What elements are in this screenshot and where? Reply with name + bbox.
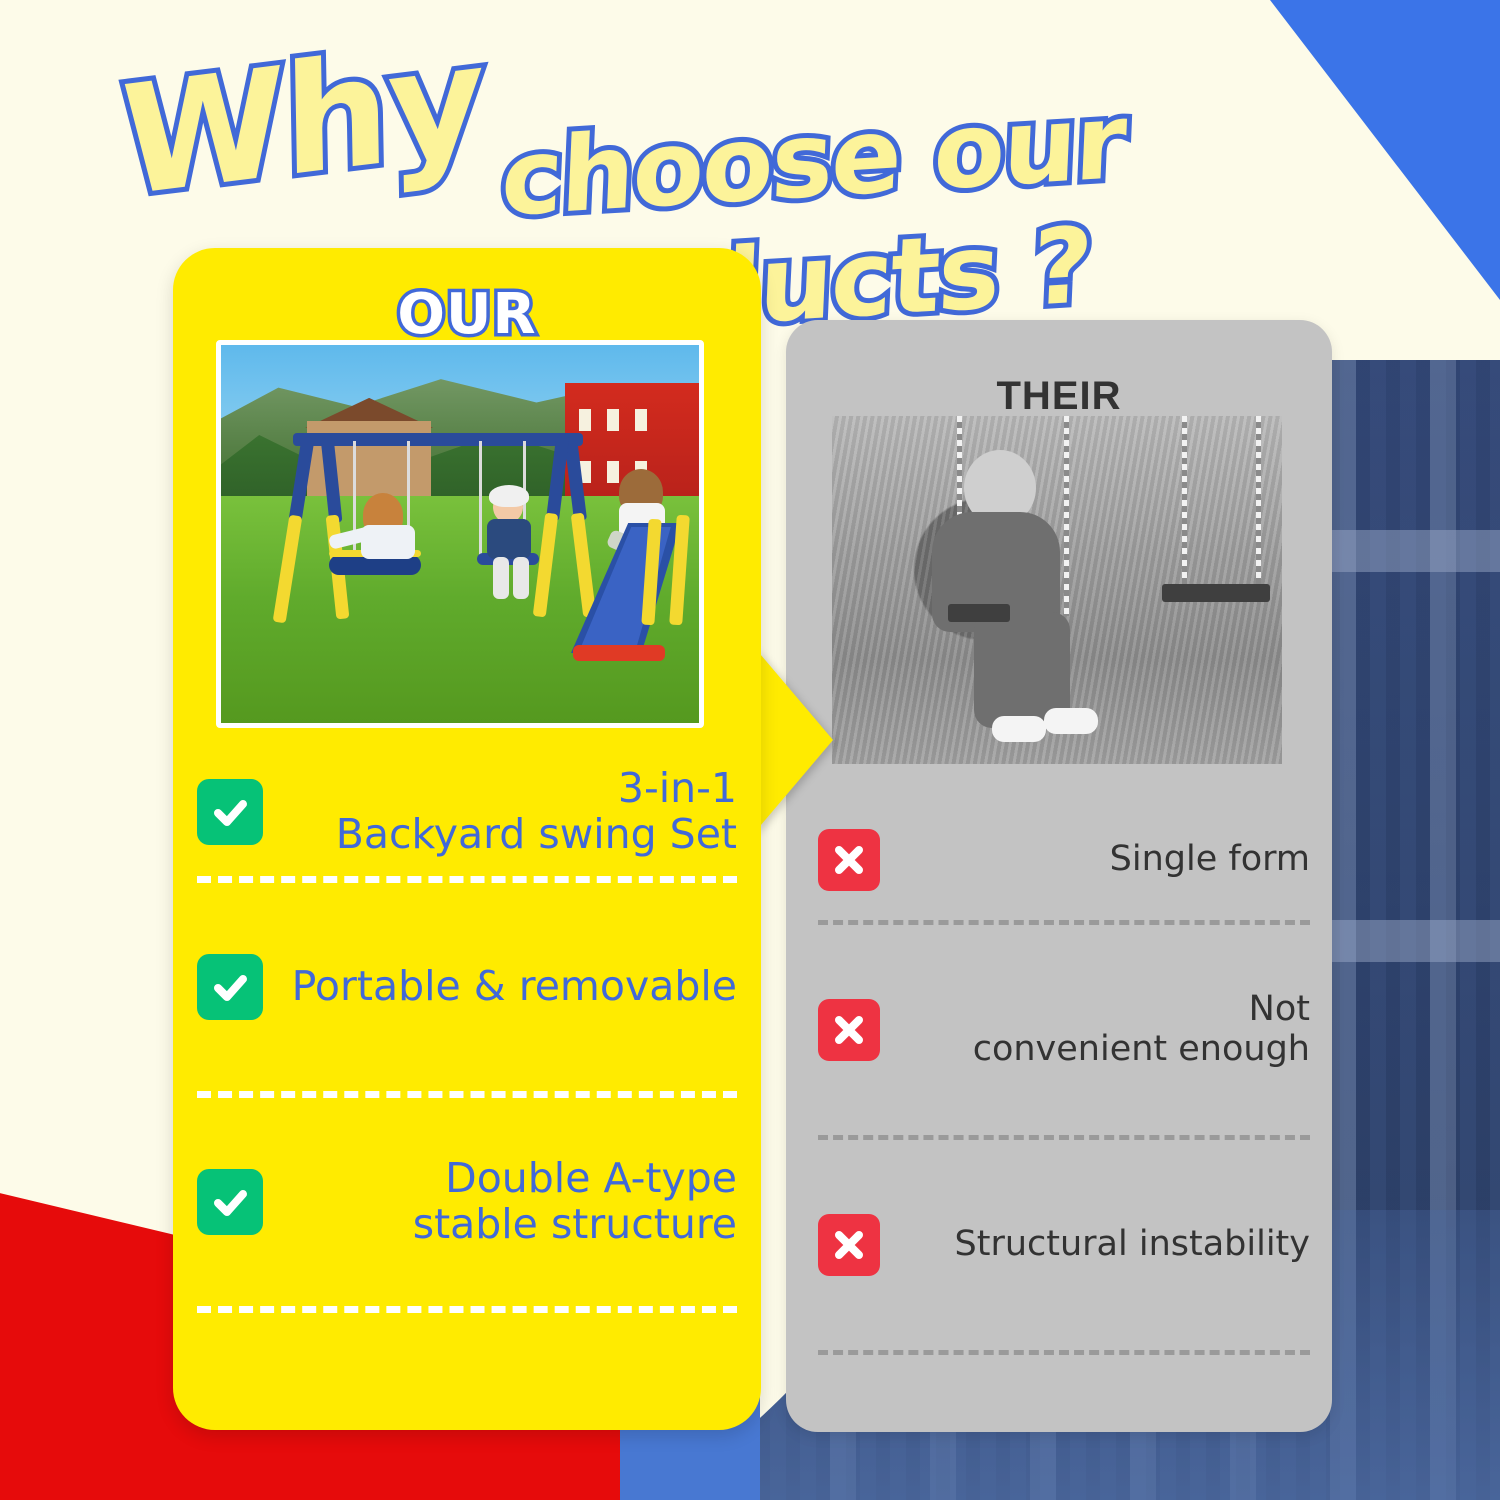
speech-bubble-tail (755, 648, 833, 832)
our-feature-row: 3-in-1 Backyard swing Set (197, 748, 737, 876)
our-feature-line2: Backyard swing Set (336, 810, 737, 858)
our-feature-text: 3-in-1 Backyard swing Set (263, 766, 737, 858)
our-divider (197, 876, 737, 883)
their-feature-line1: Single form (1110, 839, 1310, 879)
cross-icon (818, 1214, 880, 1276)
our-feature-line2: stable structure (413, 1200, 737, 1248)
their-feature-row: Single form (818, 800, 1310, 920)
our-feature-row: Double A-type stable structure (197, 1098, 737, 1306)
their-heading: THEIR (786, 374, 1332, 419)
their-divider (818, 1350, 1310, 1355)
our-feature-line1: Double A-type (445, 1154, 737, 1202)
our-feature-text: Double A-type stable structure (263, 1156, 737, 1248)
infographic-canvas: Why choose our products ? THEIR (0, 0, 1500, 1500)
their-feature-text: Single form (880, 840, 1310, 880)
our-feature-row: Portable & removable (197, 883, 737, 1091)
cross-icon (818, 999, 880, 1061)
our-feature-list: 3-in-1 Backyard swing Set Portable & rem… (197, 748, 737, 1313)
our-divider (197, 1306, 737, 1313)
our-heading: OUR (173, 282, 761, 347)
their-feature-row: Structural instability (818, 1140, 1310, 1350)
their-feature-text: Not convenient enough (880, 990, 1310, 1070)
check-icon (197, 779, 263, 845)
our-panel: OUR (173, 248, 761, 1430)
our-photo (216, 340, 704, 728)
our-divider (197, 1091, 737, 1098)
our-feature-line1: 3-in-1 (618, 764, 737, 812)
their-feature-list: Single form Not convenient enough (818, 800, 1310, 1355)
our-feature-text: Portable & removable (263, 964, 737, 1010)
corner-accent-top-right (1270, 0, 1500, 300)
their-panel: THEIR Single (786, 320, 1332, 1432)
their-feature-text: Structural instability (880, 1225, 1310, 1265)
their-feature-row: Not convenient enough (818, 925, 1310, 1135)
our-feature-line1: Portable & removable (292, 962, 737, 1010)
check-icon (197, 1169, 263, 1235)
their-photo (832, 416, 1282, 764)
their-feature-line1: Structural instability (955, 1224, 1311, 1264)
cross-icon (818, 829, 880, 891)
check-icon (197, 954, 263, 1020)
their-feature-line2: convenient enough (973, 1029, 1310, 1069)
their-feature-line1: Not (1249, 989, 1310, 1029)
